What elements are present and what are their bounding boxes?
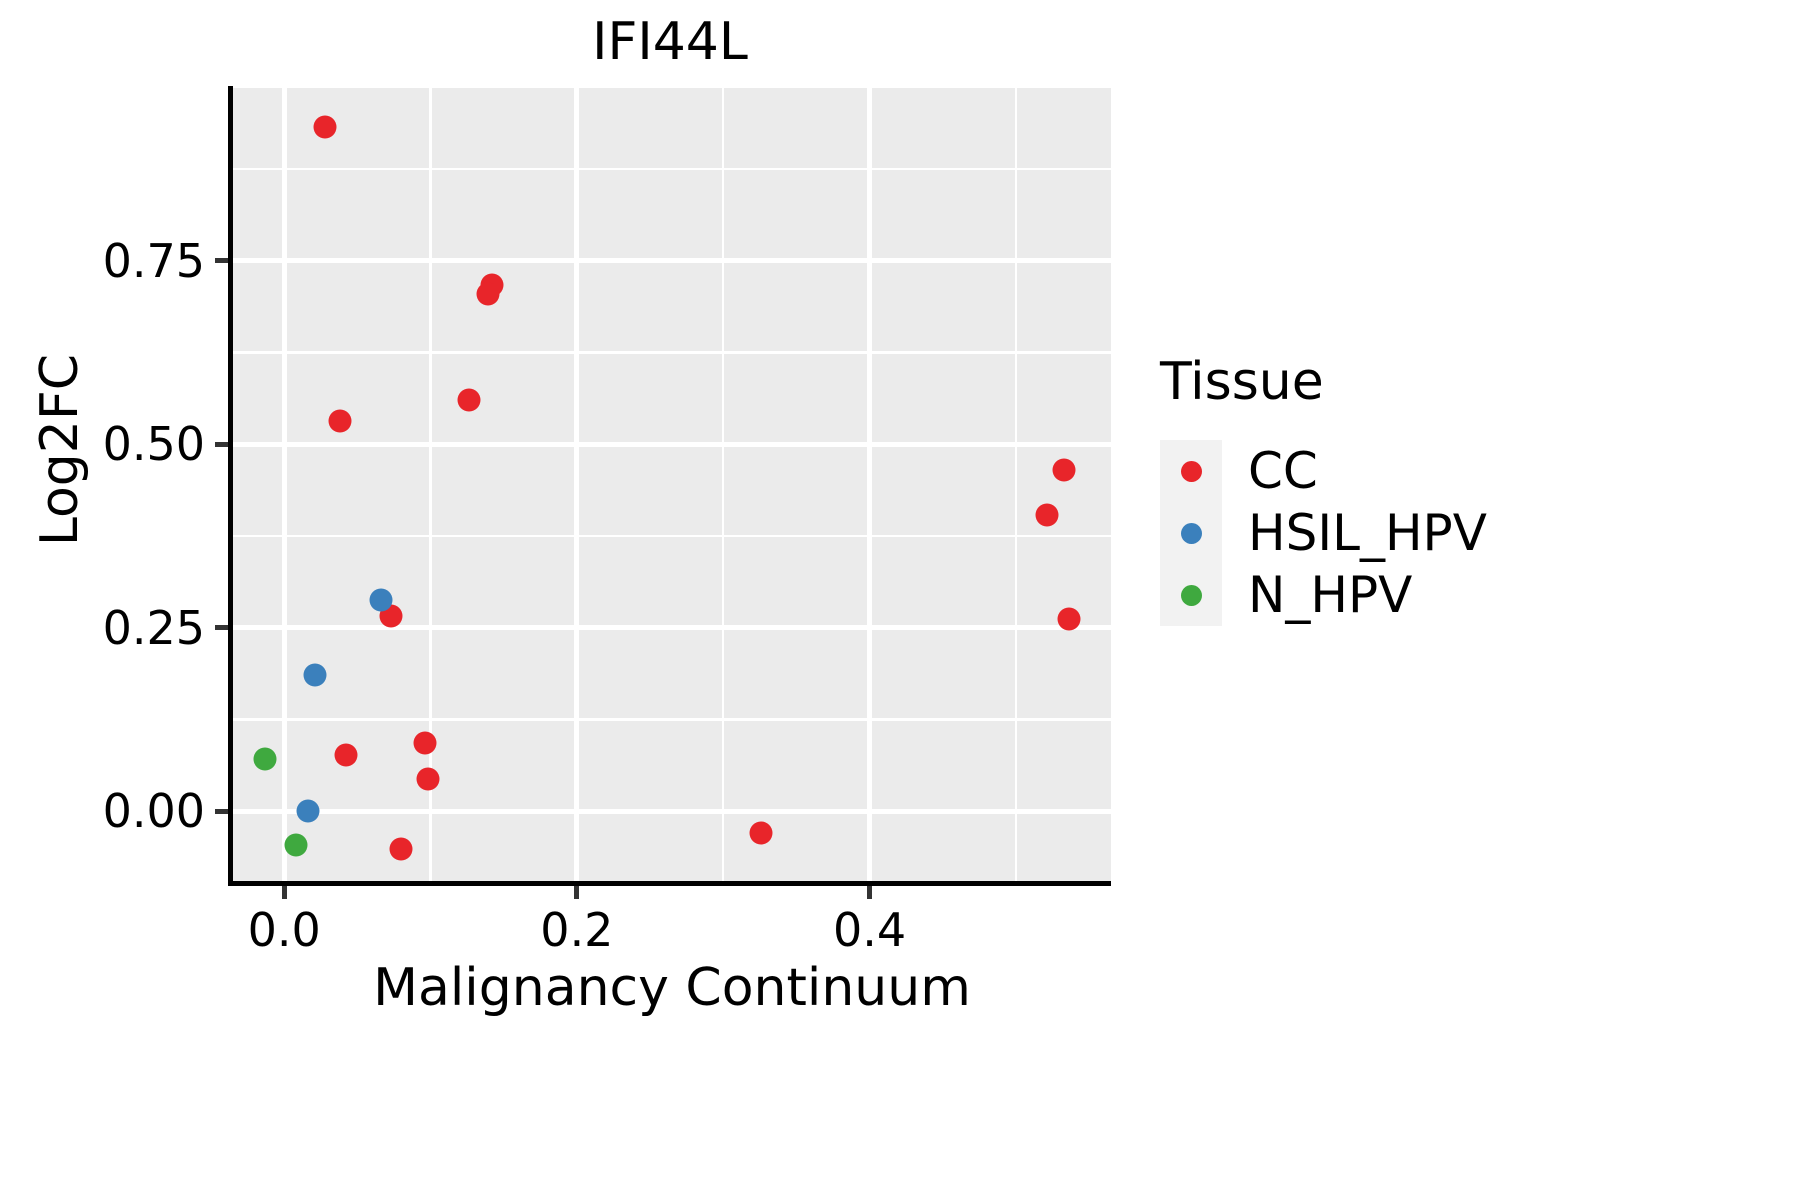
data-point — [390, 837, 413, 860]
data-point — [1053, 458, 1076, 481]
data-point — [369, 588, 392, 611]
x-axis-label: Malignancy Continuum — [233, 958, 1111, 1018]
x-tick-label: 0.0 — [248, 903, 321, 957]
x-tick-label: 0.4 — [833, 903, 906, 957]
chart-figure: IFI44L 0.000.250.500.75 0.00.20.4 Log2FC… — [0, 0, 1800, 1200]
legend: Tissue CCHSIL_HPVN_HPV — [1160, 352, 1680, 626]
data-point — [314, 115, 337, 138]
data-point — [334, 743, 357, 766]
gridline-minor-horizontal — [233, 718, 1111, 721]
gridline-major-horizontal — [233, 258, 1111, 263]
gridline-minor-vertical — [722, 88, 725, 881]
data-point — [303, 664, 326, 687]
legend-key — [1160, 564, 1222, 626]
y-tick-mark — [215, 625, 228, 630]
legend-item-n_hpv[interactable]: N_HPV — [1160, 564, 1680, 626]
gridline-major-horizontal — [233, 809, 1111, 814]
data-point — [254, 748, 277, 771]
data-point — [296, 799, 319, 822]
legend-item-hsil_hpv[interactable]: HSIL_HPV — [1160, 502, 1680, 564]
data-point — [284, 834, 307, 857]
data-point — [750, 821, 773, 844]
legend-item-label: HSIL_HPV — [1248, 504, 1487, 562]
y-axis-line — [228, 86, 233, 883]
y-tick-mark — [215, 809, 228, 814]
page-title: IFI44L — [0, 12, 1340, 72]
data-point — [328, 410, 351, 433]
legend-item-label: N_HPV — [1248, 566, 1412, 624]
x-axis-line — [228, 881, 1111, 886]
data-point — [457, 389, 480, 412]
y-tick-mark — [215, 258, 228, 263]
y-tick-label: 0.00 — [103, 784, 205, 838]
gridline-minor-vertical — [429, 88, 432, 881]
x-tick-mark — [574, 886, 579, 899]
gridline-minor-horizontal — [233, 168, 1111, 171]
data-point — [1057, 607, 1080, 630]
legend-items: CCHSIL_HPVN_HPV — [1160, 440, 1680, 626]
y-axis-label: Log2FC — [30, 130, 90, 770]
gridline-minor-vertical — [1015, 88, 1018, 881]
gridline-major-vertical — [574, 88, 579, 881]
gridline-major-horizontal — [233, 442, 1111, 447]
y-tick-label: 0.25 — [103, 601, 205, 655]
gridline-major-vertical — [282, 88, 287, 881]
data-point — [416, 767, 439, 790]
legend-item-cc[interactable]: CC — [1160, 440, 1680, 502]
data-point — [476, 282, 499, 305]
gridline-major-horizontal — [233, 625, 1111, 630]
y-tick-label: 0.50 — [103, 417, 205, 471]
y-tick-mark — [215, 442, 228, 447]
legend-dot-icon — [1181, 461, 1202, 482]
x-tick-mark — [867, 886, 872, 899]
data-point — [413, 731, 436, 754]
gridline-minor-horizontal — [233, 535, 1111, 538]
gridline-minor-horizontal — [233, 351, 1111, 354]
y-tick-label: 0.75 — [103, 234, 205, 288]
plot-panel — [233, 88, 1111, 881]
x-tick-label: 0.2 — [540, 903, 613, 957]
legend-dot-icon — [1181, 523, 1202, 544]
legend-dot-icon — [1181, 585, 1202, 606]
legend-title: Tissue — [1160, 352, 1680, 412]
legend-key — [1160, 502, 1222, 564]
gridline-major-vertical — [867, 88, 872, 881]
legend-item-label: CC — [1248, 442, 1318, 500]
data-point — [1035, 503, 1058, 526]
x-tick-mark — [282, 886, 287, 899]
legend-key — [1160, 440, 1222, 502]
